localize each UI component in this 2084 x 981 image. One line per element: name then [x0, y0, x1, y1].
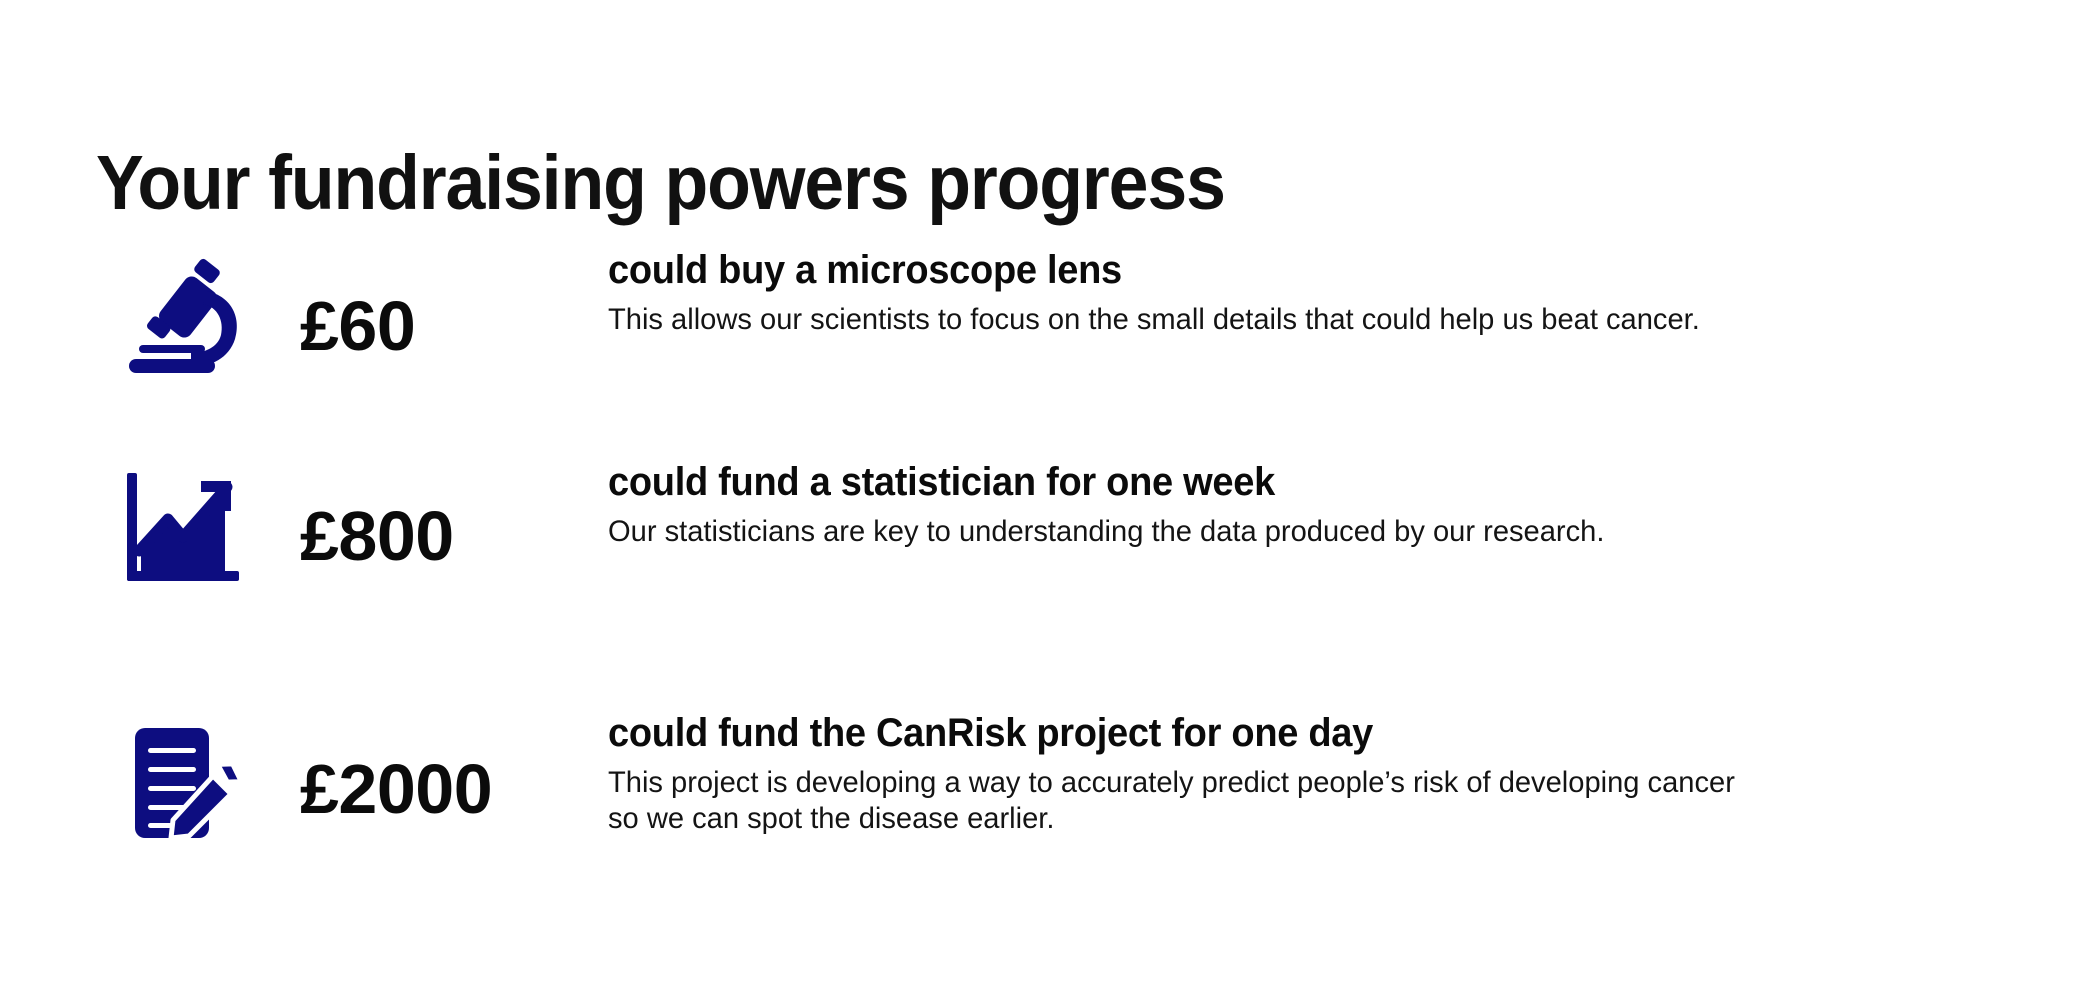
impact-headline: could fund the CanRisk project for one d… [608, 709, 1881, 757]
document-pencil-icon [118, 717, 250, 849]
fundraising-impact-panel: Your fundraising powers progress [0, 0, 2084, 981]
impact-description: This project is developing a way to accu… [608, 765, 1772, 837]
impact-row: £2000 could fund the CanRisk project for… [0, 713, 2084, 873]
impact-text: could buy a microscope lens This allows … [608, 246, 1948, 338]
impact-description: Our statisticians are key to understandi… [608, 514, 1869, 550]
impact-headline: could fund a statistician for one week [608, 458, 1881, 506]
impact-headline: could buy a microscope lens [608, 246, 1881, 294]
impact-row: £800 could fund a statistician for one w… [0, 458, 2084, 618]
impact-row: £60 could buy a microscope lens This all… [0, 236, 2084, 396]
growth-chart-icon [118, 464, 250, 596]
impact-amount: £800 [300, 470, 590, 602]
impact-text: could fund the CanRisk project for one d… [608, 709, 1948, 837]
impact-amount: £60 [300, 260, 590, 392]
page-title: Your fundraising powers progress [96, 138, 1225, 228]
impact-text: could fund a statistician for one week O… [608, 458, 1948, 550]
impact-description: This allows our scientists to focus on t… [608, 302, 1782, 338]
impact-amount: £2000 [300, 723, 590, 855]
microscope-icon [118, 254, 250, 386]
